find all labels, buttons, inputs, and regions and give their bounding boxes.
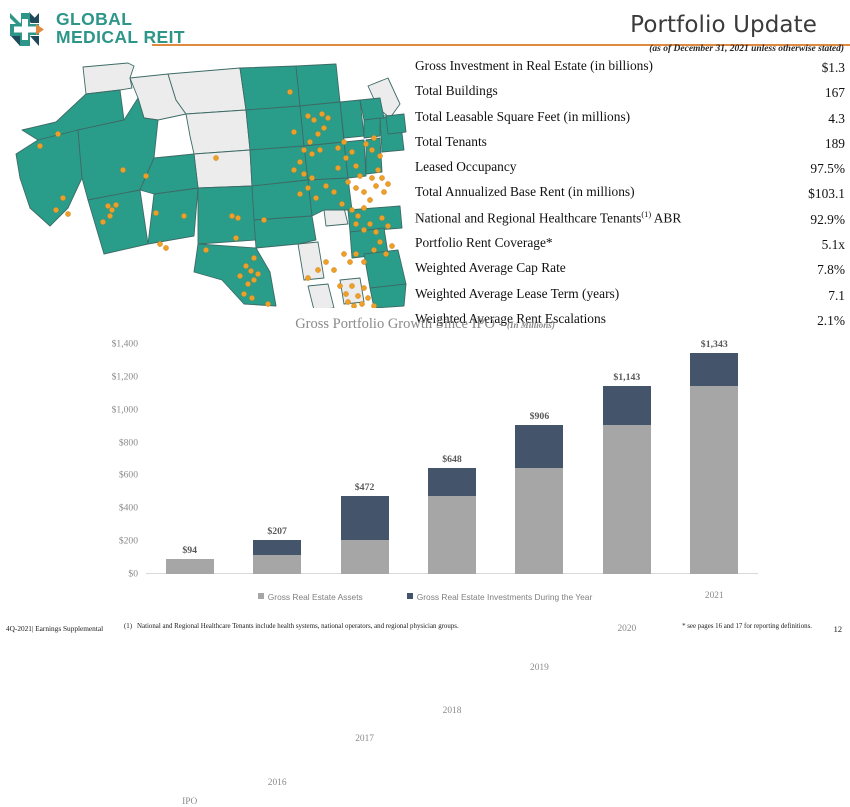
legend-swatch [258, 593, 264, 599]
map-svg [8, 58, 408, 308]
bar-segment-investments [603, 386, 651, 425]
chart-bar-column[interactable]: $9062019 [515, 425, 563, 574]
bar-value-label: $472 [355, 482, 375, 493]
metric-label: Total Leasable Square Feet (in millions) [415, 109, 630, 125]
page-title: Portfolio Update [630, 12, 817, 38]
legend-item[interactable]: Gross Real Estate Investments During the… [407, 592, 593, 602]
portfolio-metrics-list: Gross Investment in Real Estate (in bill… [415, 56, 845, 334]
footnote-1-number: (1) [124, 623, 132, 630]
chart-title: Gross Portfolio Growth Since IPO - (In M… [0, 316, 850, 333]
metric-label: Weighted Average Cap Rate [415, 260, 566, 276]
bar-segment-investments [515, 425, 563, 467]
footnote-1: (1)National and Regional Healthcare Tena… [124, 623, 459, 630]
chart-bar-column[interactable]: $1,1432020 [603, 386, 651, 574]
gross-portfolio-growth-chart: Gross Portfolio Growth Since IPO - (In M… [0, 316, 850, 612]
bar-value-label: $94 [182, 545, 197, 556]
y-axis-tick-label: $1,400 [80, 339, 138, 350]
bar-value-label: $906 [530, 411, 550, 422]
metric-row: Total Buildings 167 [415, 81, 845, 106]
metric-value: 7.1 [828, 288, 845, 304]
bar-value-label: $207 [267, 526, 287, 537]
y-axis-tick-label: $1,200 [80, 371, 138, 382]
legend-swatch [407, 593, 413, 599]
metric-value: $103.1 [808, 186, 845, 202]
chart-subtitle: (In Millions) [507, 320, 555, 330]
x-axis-tick-label: 2016 [227, 778, 327, 788]
bar-value-label: $1,343 [701, 339, 728, 350]
bar-segment-assets [428, 496, 476, 574]
company-logo-icon [8, 10, 50, 50]
y-axis-tick-label: $800 [80, 437, 138, 448]
bar-segment-assets [690, 386, 738, 574]
chart-bar-column[interactable]: $4722017 [341, 496, 389, 574]
page-footer: 4Q-2021| Earnings Supplemental (1)Nation… [0, 612, 850, 638]
bar-segment-assets [515, 468, 563, 574]
footnote-star: * see pages 16 and 17 for reporting defi… [682, 623, 812, 630]
metric-label: Gross Investment in Real Estate (in bill… [415, 58, 653, 74]
metric-row: Weighted Average Cap Rate 7.8% [415, 258, 845, 283]
metric-label: Total Buildings [415, 83, 498, 99]
y-axis-tick-label: $0 [80, 569, 138, 580]
bar-segment-investments [341, 496, 389, 540]
x-axis-tick-label: 2018 [402, 706, 502, 716]
metric-row: Leased Occupancy 97.5% [415, 157, 845, 182]
bar-segment-assets [341, 540, 389, 574]
chart-legend: Gross Real Estate AssetsGross Real Estat… [0, 592, 850, 602]
chart-plot-area: $0$200$400$600$800$1,000$1,200$1,400 $94… [78, 344, 758, 574]
legend-label: Gross Real Estate Investments During the… [417, 592, 593, 602]
page-number: 12 [834, 625, 842, 634]
metric-label: Leased Occupancy [415, 159, 517, 175]
bar-segment-assets [603, 425, 651, 574]
metric-value: 92.9% [810, 212, 845, 228]
footnote-marker: (1) [641, 210, 651, 219]
metric-row: Weighted Average Lease Term (years) 7.1 [415, 284, 845, 309]
footer-document-label: 4Q-2021| Earnings Supplemental [6, 624, 103, 633]
chart-bar-column[interactable]: $1,3432021 [690, 353, 738, 574]
brand-wordmark: GLOBAL MEDICAL REIT [56, 11, 185, 47]
bar-value-label: $648 [442, 454, 462, 465]
metric-label: National and Regional Healthcare Tenants… [415, 210, 681, 226]
chart-bar-column[interactable]: $94IPO [166, 559, 214, 574]
chart-bar-column[interactable]: $6482018 [428, 468, 476, 574]
y-axis-tick-label: $400 [80, 503, 138, 514]
page-header: GLOBAL MEDICAL REIT Portfolio Update (as… [0, 0, 850, 56]
bar-value-label: $1,143 [613, 372, 640, 383]
footnote-1-text: National and Regional Healthcare Tenants… [137, 623, 459, 630]
metric-row: Portfolio Rent Coverage* 5.1x [415, 233, 845, 258]
metric-label-main: National and Regional Healthcare Tenants [415, 210, 641, 225]
metric-label-suffix: ABR [651, 210, 681, 225]
metric-label: Total Tenants [415, 134, 487, 150]
legend-item[interactable]: Gross Real Estate Assets [258, 592, 363, 602]
metric-value: 97.5% [810, 161, 845, 177]
legend-label: Gross Real Estate Assets [268, 592, 363, 602]
metric-row: Total Tenants 189 [415, 132, 845, 157]
metric-value: $1.3 [822, 60, 845, 76]
metric-label: Weighted Average Lease Term (years) [415, 286, 619, 302]
metric-label: Total Annualized Base Rent (in millions) [415, 184, 635, 200]
metric-value: 7.8% [817, 262, 845, 278]
bar-segment-assets [166, 559, 214, 574]
metric-row: Gross Investment in Real Estate (in bill… [415, 56, 845, 81]
x-axis-tick-label: 2019 [489, 663, 589, 673]
metric-value: 167 [825, 85, 845, 101]
bar-segment-investments [690, 353, 738, 386]
metric-value: 4.3 [828, 111, 845, 127]
bar-segment-investments [428, 468, 476, 497]
metric-label: Portfolio Rent Coverage* [415, 235, 553, 251]
bar-segment-investments [253, 540, 301, 555]
y-axis-tick-label: $200 [80, 536, 138, 547]
as-of-date-note: (as of December 31, 2021 unless otherwis… [649, 44, 844, 54]
metric-row-national-regional: National and Regional Healthcare Tenants… [415, 208, 845, 233]
metric-value: 5.1x [822, 237, 845, 253]
metric-row: Total Leasable Square Feet (in millions)… [415, 107, 845, 132]
y-axis-tick-label: $600 [80, 470, 138, 481]
chart-bar-column[interactable]: $2072016 [253, 540, 301, 574]
bar-segment-assets [253, 555, 301, 574]
x-axis-tick-label: IPO [140, 797, 240, 807]
us-portfolio-map [8, 58, 408, 308]
chart-title-main: Gross Portfolio Growth Since IPO - [295, 316, 507, 332]
metric-value: 189 [825, 136, 845, 152]
x-axis-tick-label: 2017 [315, 734, 415, 744]
metric-row: Total Annualized Base Rent (in millions)… [415, 182, 845, 207]
y-axis-tick-label: $1,000 [80, 404, 138, 415]
